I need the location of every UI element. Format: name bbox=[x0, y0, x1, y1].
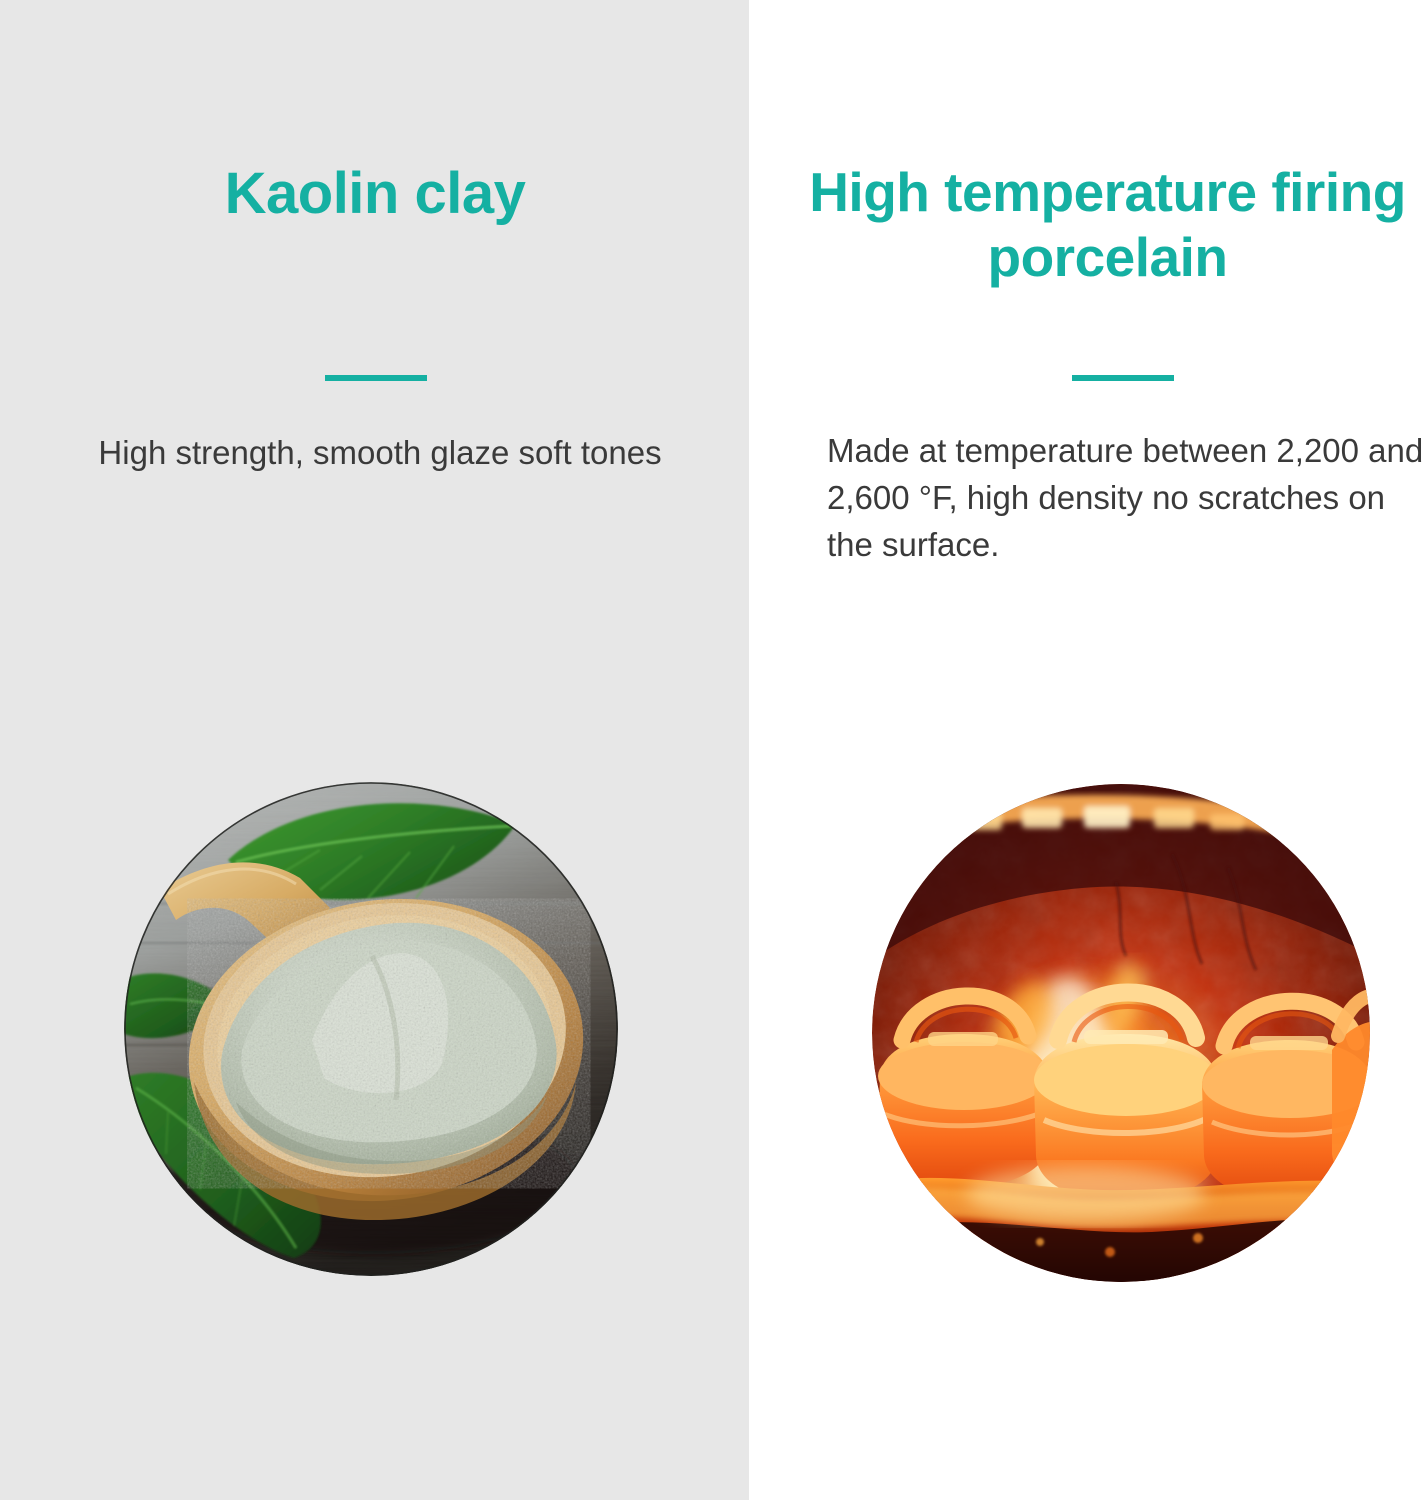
heading-high-temperature-firing: High temperature firing porcelain bbox=[795, 160, 1420, 290]
kaolin-clay-photo bbox=[124, 782, 618, 1276]
body-text-kaolin-clay: High strength, smooth glaze soft tones bbox=[60, 430, 700, 477]
body-text-high-temperature-firing: Made at temperature between 2,200 and 2,… bbox=[827, 428, 1426, 569]
product-feature-infographic: Kaolin clay High strength, smooth glaze … bbox=[0, 0, 1426, 1500]
accent-rule-left bbox=[325, 375, 427, 381]
kiln-firing-photo bbox=[872, 784, 1370, 1282]
heading-kaolin-clay: Kaolin clay bbox=[40, 160, 710, 228]
accent-rule-right bbox=[1072, 375, 1174, 381]
